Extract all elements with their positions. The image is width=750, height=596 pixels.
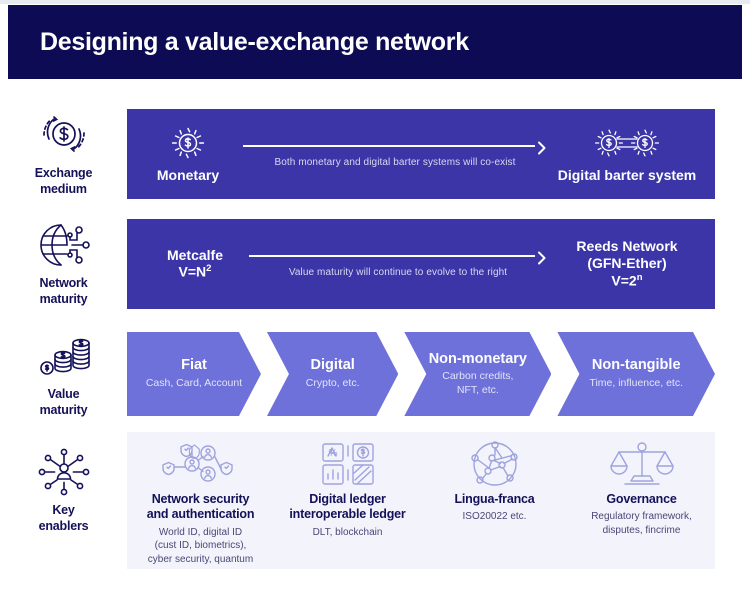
chevron-subtitle: Carbon credits,NFT, etc. <box>442 370 513 397</box>
double-gear-dollar-icon <box>590 124 664 164</box>
band-network-maturity: Metcalfe V=N2 Value maturity will contin… <box>127 219 715 309</box>
endcap-metcalfe: Metcalfe V=N2 <box>145 247 245 282</box>
metcalfe-formula: V=N2 <box>179 263 212 281</box>
enabler-subtitle: ISO20022 etc. <box>463 510 527 524</box>
enabler-title: Lingua-franca <box>454 492 534 507</box>
row-label-text: Networkmaturity <box>40 276 88 307</box>
connected-nodes-circle-icon <box>466 440 524 488</box>
endcap-reeds-network: Reeds Network (GFN-Ether) V=2n <box>547 238 707 290</box>
reeds-subtitle: (GFN-Ether) <box>587 255 666 273</box>
arrow-network-maturity: Value maturity will continue to evolve t… <box>249 239 547 289</box>
band-exchange-medium: Monetary Both monetary and digital barte… <box>127 109 715 199</box>
chevron-stage-digital[interactable]: Digital Crypto, etc. <box>267 332 398 416</box>
row-label-network-maturity: Networkmaturity <box>0 219 127 309</box>
chevron-title: Non-tangible <box>592 357 681 374</box>
row-key-enablers: Keyenablers <box>0 432 750 569</box>
circular-arrows-dollar-icon <box>36 109 92 161</box>
enabler-subtitle: Regulatory framework,disputes, fincrime <box>591 510 692 537</box>
row-exchange-medium: Exchangemedium Monetary <box>0 109 750 199</box>
metcalfe-title: Metcalfe <box>167 247 223 264</box>
chevron-title: Fiat <box>181 357 207 374</box>
slide-header: Designing a value-exchange network <box>8 5 742 79</box>
row-label-text: Keyenablers <box>39 503 89 534</box>
arrow-shaft <box>249 255 535 257</box>
chevron-stage-non-tangible[interactable]: Non-tangible Time, influence, etc. <box>557 332 715 416</box>
row-label-exchange-medium: Exchangemedium <box>0 109 127 199</box>
endcap-monetary: Monetary <box>133 124 243 184</box>
chevron-stage-non-monetary[interactable]: Non-monetary Carbon credits,NFT, etc. <box>404 332 551 416</box>
endcap-title: Monetary <box>157 167 219 184</box>
chevron-subtitle: Crypto, etc. <box>306 377 360 391</box>
enabler-subtitle: World ID, digital ID(cust ID, biometrics… <box>148 526 253 567</box>
enabler-subtitle: DLT, blockchain <box>313 526 383 540</box>
row-label-text: Exchangemedium <box>35 166 92 197</box>
row-network-maturity: Networkmaturity Metcalfe V=N2 Value matu… <box>0 219 750 309</box>
shield-person-network-icon <box>158 440 244 488</box>
page-title: Designing a value-exchange network <box>8 28 469 57</box>
row-value-maturity: Valuematurity Fiat Cash, Card, Account D… <box>0 332 750 416</box>
enabler-network-security[interactable]: Network securityand authentication World… <box>127 440 274 566</box>
chevron-subtitle: Time, influence, etc. <box>589 377 683 391</box>
key-enablers-panel: Network securityand authentication World… <box>127 432 715 569</box>
enabler-governance[interactable]: Governance Regulatory framework,disputes… <box>568 440 715 537</box>
row-label-value-maturity: Valuematurity <box>0 332 127 416</box>
arrow-line <box>243 141 547 151</box>
arrow-exchange-medium: Both monetary and digital barter systems… <box>243 129 547 179</box>
slide-root: Designing a value-exchange network Excha… <box>0 4 750 596</box>
enabler-title: Governance <box>606 492 676 507</box>
reeds-formula: V=2n <box>611 272 642 290</box>
enabler-title: Digital ledgerinteroperable ledger <box>289 492 405 523</box>
scales-of-justice-icon <box>607 440 677 488</box>
enabler-lingua-franca[interactable]: Lingua-franca ISO20022 etc. <box>421 440 568 524</box>
enabler-digital-ledger[interactable]: % Digital ledgerinteroperable ledger DLT… <box>274 440 421 539</box>
value-maturity-chevrons: Fiat Cash, Card, Account Digital Crypto,… <box>127 332 715 416</box>
gear-dollar-icon <box>167 124 209 164</box>
chevron-subtitle: Cash, Card, Account <box>146 377 242 391</box>
globe-network-icon <box>36 219 92 271</box>
node-network-person-icon <box>36 446 92 498</box>
row-label-key-enablers: Keyenablers <box>0 432 127 569</box>
row-label-text: Valuematurity <box>40 387 88 418</box>
svg-text:%: % <box>328 448 338 459</box>
reeds-title: Reeds Network <box>576 238 677 255</box>
arrow-caption: Both monetary and digital barter systems… <box>243 157 547 168</box>
coin-stacks-dollar-icon <box>36 332 92 382</box>
enabler-title: Network securityand authentication <box>147 492 255 523</box>
endcap-digital-barter: Digital barter system <box>547 124 707 184</box>
arrow-shaft <box>243 145 535 147</box>
ledger-chart-dollar-icon: % <box>317 440 379 488</box>
endcap-title: Digital barter system <box>558 167 697 184</box>
chevron-stage-fiat[interactable]: Fiat Cash, Card, Account <box>127 332 261 416</box>
chevron-title: Non-monetary <box>429 351 527 368</box>
arrow-line <box>249 251 547 261</box>
chevron-title: Digital <box>310 357 354 374</box>
arrow-caption: Value maturity will continue to evolve t… <box>249 267 547 278</box>
